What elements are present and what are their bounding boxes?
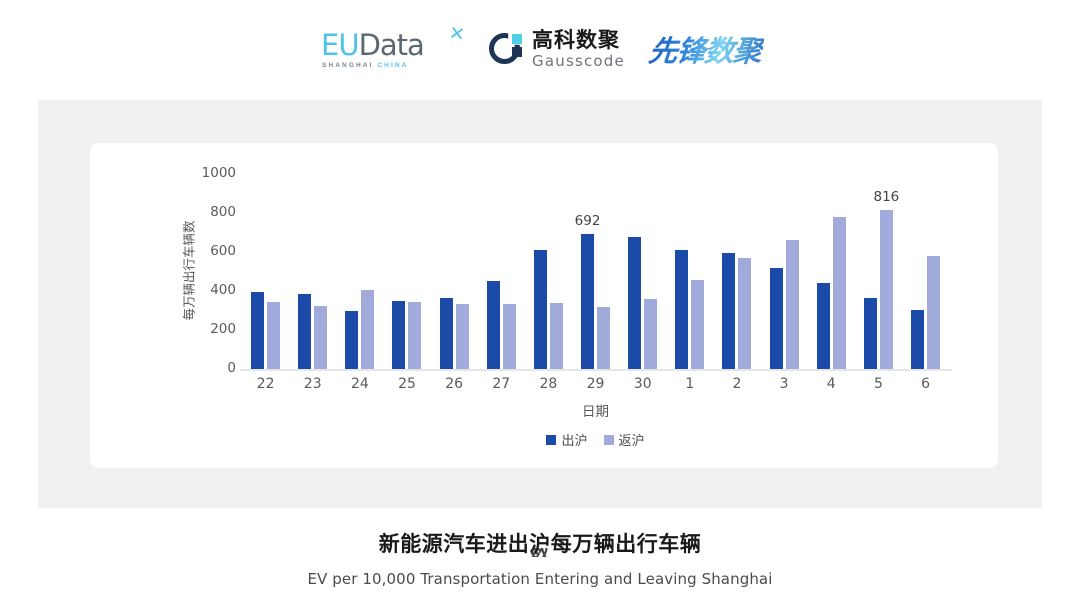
y-axis-tick-label: 1000 <box>190 167 236 181</box>
x-axis-line <box>240 369 952 371</box>
evdata-logo: EUData ✕ SHANGHAI CHINA <box>317 23 467 75</box>
x-axis-tick-label: 29 <box>572 376 619 392</box>
bar-value-label: 816 <box>874 189 900 205</box>
chart-legend: 出沪返沪 <box>242 430 949 449</box>
x-axis-tick-label: 3 <box>761 376 808 392</box>
bar-返沪-29[interactable] <box>597 307 610 369</box>
caption-chinese-overflow: 数 <box>530 548 551 557</box>
x-axis-tick-label: 28 <box>525 376 572 392</box>
gausscode-chinese-name: 高科数聚 <box>532 30 625 51</box>
legend-item-返沪[interactable]: 返沪 <box>604 430 645 449</box>
evdata-ev-text: EU <box>321 28 359 62</box>
x-axis-tick-label: 22 <box>242 376 289 392</box>
evdata-subtitle: SHANGHAI CHINA <box>322 62 408 69</box>
bar-出沪-24[interactable] <box>345 311 358 369</box>
bar-出沪-23[interactable] <box>298 294 311 369</box>
bar-返沪-24[interactable] <box>361 290 374 369</box>
caption-chinese: 新能源汽车进出沪每万辆出行车辆 数 <box>0 528 1080 558</box>
gausscode-mark-icon <box>489 31 525 67</box>
bar-group <box>713 174 760 369</box>
bar-group <box>902 174 949 369</box>
bar-返沪-5[interactable]: 816 <box>880 210 893 369</box>
bar-返沪-1[interactable] <box>691 280 704 369</box>
y-axis-ticks: 10008006004002000 <box>190 143 236 468</box>
legend-label: 返沪 <box>619 430 645 449</box>
bar-出沪-29[interactable]: 692 <box>581 234 594 369</box>
bar-groups: 692816 <box>242 174 949 369</box>
gausscode-text: 高科数聚 Gausscode <box>532 30 625 69</box>
bar-出沪-5[interactable] <box>864 298 877 369</box>
bar-出沪-30[interactable] <box>628 237 641 369</box>
x-axis-tick-label: 5 <box>855 376 902 392</box>
gausscode-square-light <box>512 34 522 44</box>
evdata-subtitle-shanghai: SHANGHAI <box>322 62 377 69</box>
bar-group <box>761 174 808 369</box>
x-axis-tick-label: 6 <box>902 376 949 392</box>
x-axis-tick-label: 24 <box>336 376 383 392</box>
bar-value-label: 692 <box>575 213 601 229</box>
legend-swatch <box>546 435 556 445</box>
bar-group <box>478 174 525 369</box>
x-axis-tick-label: 26 <box>431 376 478 392</box>
x-axis-tick-labels: 222324252627282930123456 <box>242 376 949 392</box>
bar-group <box>336 174 383 369</box>
y-axis-tick-label: 600 <box>190 245 236 259</box>
x-axis-tick-label: 4 <box>808 376 855 392</box>
bar-chart: 每万辆出行车辆数 10008006004002000 692816 222324… <box>90 143 998 468</box>
bar-返沪-30[interactable] <box>644 299 657 369</box>
gausscode-square-dark <box>512 47 522 57</box>
evdata-data-text: Data <box>359 28 424 62</box>
x-axis-tick-label: 2 <box>713 376 760 392</box>
bar-group <box>289 174 336 369</box>
gausscode-english-name: Gausscode <box>532 54 625 69</box>
bar-出沪-4[interactable] <box>817 283 830 369</box>
y-axis-tick-label: 0 <box>190 362 236 376</box>
bar-group: 816 <box>855 174 902 369</box>
bar-出沪-6[interactable] <box>911 310 924 369</box>
plot-area: 692816 <box>242 174 949 369</box>
x-axis-tick-label: 25 <box>383 376 430 392</box>
evdata-subtitle-china: CHINA <box>377 62 408 69</box>
legend-swatch <box>604 435 614 445</box>
bar-出沪-1[interactable] <box>675 250 688 369</box>
x-axis-tick-label: 1 <box>666 376 713 392</box>
x-axis-tick-label: 30 <box>619 376 666 392</box>
x-axis-tick-label: 27 <box>478 376 525 392</box>
bar-返沪-27[interactable] <box>503 304 516 369</box>
bar-group <box>242 174 289 369</box>
bar-出沪-26[interactable] <box>440 298 453 369</box>
gausscode-logo: 高科数聚 Gausscode <box>489 23 625 75</box>
chart-card: 每万辆出行车辆数 10008006004002000 692816 222324… <box>90 143 998 468</box>
bar-出沪-22[interactable] <box>251 292 264 369</box>
caption-block: 新能源汽车进出沪每万辆出行车辆 数 EV per 10,000 Transpor… <box>0 528 1080 588</box>
bar-返沪-2[interactable] <box>738 258 751 369</box>
x-axis-title: 日期 <box>242 400 949 420</box>
y-axis-tick-label: 200 <box>190 323 236 337</box>
legend-item-出沪[interactable]: 出沪 <box>546 430 587 449</box>
bar-出沪-25[interactable] <box>392 301 405 369</box>
legend-label: 出沪 <box>561 430 587 449</box>
y-axis-tick-label: 800 <box>190 206 236 220</box>
x-mark-icon: ✕ <box>448 22 467 47</box>
bar-group: 692 <box>572 174 619 369</box>
bar-group <box>525 174 572 369</box>
bar-返沪-4[interactable] <box>833 217 846 369</box>
bar-出沪-28[interactable] <box>534 250 547 369</box>
xianfeng-shuju-logo: 先锋数聚 <box>645 28 765 70</box>
bar-group <box>431 174 478 369</box>
evdata-wordmark: EUData <box>321 28 424 62</box>
bar-group <box>808 174 855 369</box>
bar-group <box>666 174 713 369</box>
y-axis-tick-label: 400 <box>190 284 236 298</box>
bar-返沪-23[interactable] <box>314 306 327 369</box>
bar-返沪-6[interactable] <box>927 256 940 369</box>
bar-返沪-26[interactable] <box>456 304 469 369</box>
logo-bar: EUData ✕ SHANGHAI CHINA 高科数聚 Gausscode 先… <box>0 16 1080 82</box>
bar-出沪-3[interactable] <box>770 268 783 369</box>
bar-出沪-2[interactable] <box>722 253 735 369</box>
x-axis-tick-label: 23 <box>289 376 336 392</box>
bar-返沪-3[interactable] <box>786 240 799 369</box>
bar-返沪-25[interactable] <box>408 302 421 369</box>
bar-group <box>383 174 430 369</box>
bar-返沪-28[interactable] <box>550 303 563 369</box>
bar-出沪-27[interactable] <box>487 281 500 369</box>
caption-english: EV per 10,000 Transportation Entering an… <box>0 570 1080 588</box>
bar-group <box>619 174 666 369</box>
bar-返沪-22[interactable] <box>267 302 280 369</box>
